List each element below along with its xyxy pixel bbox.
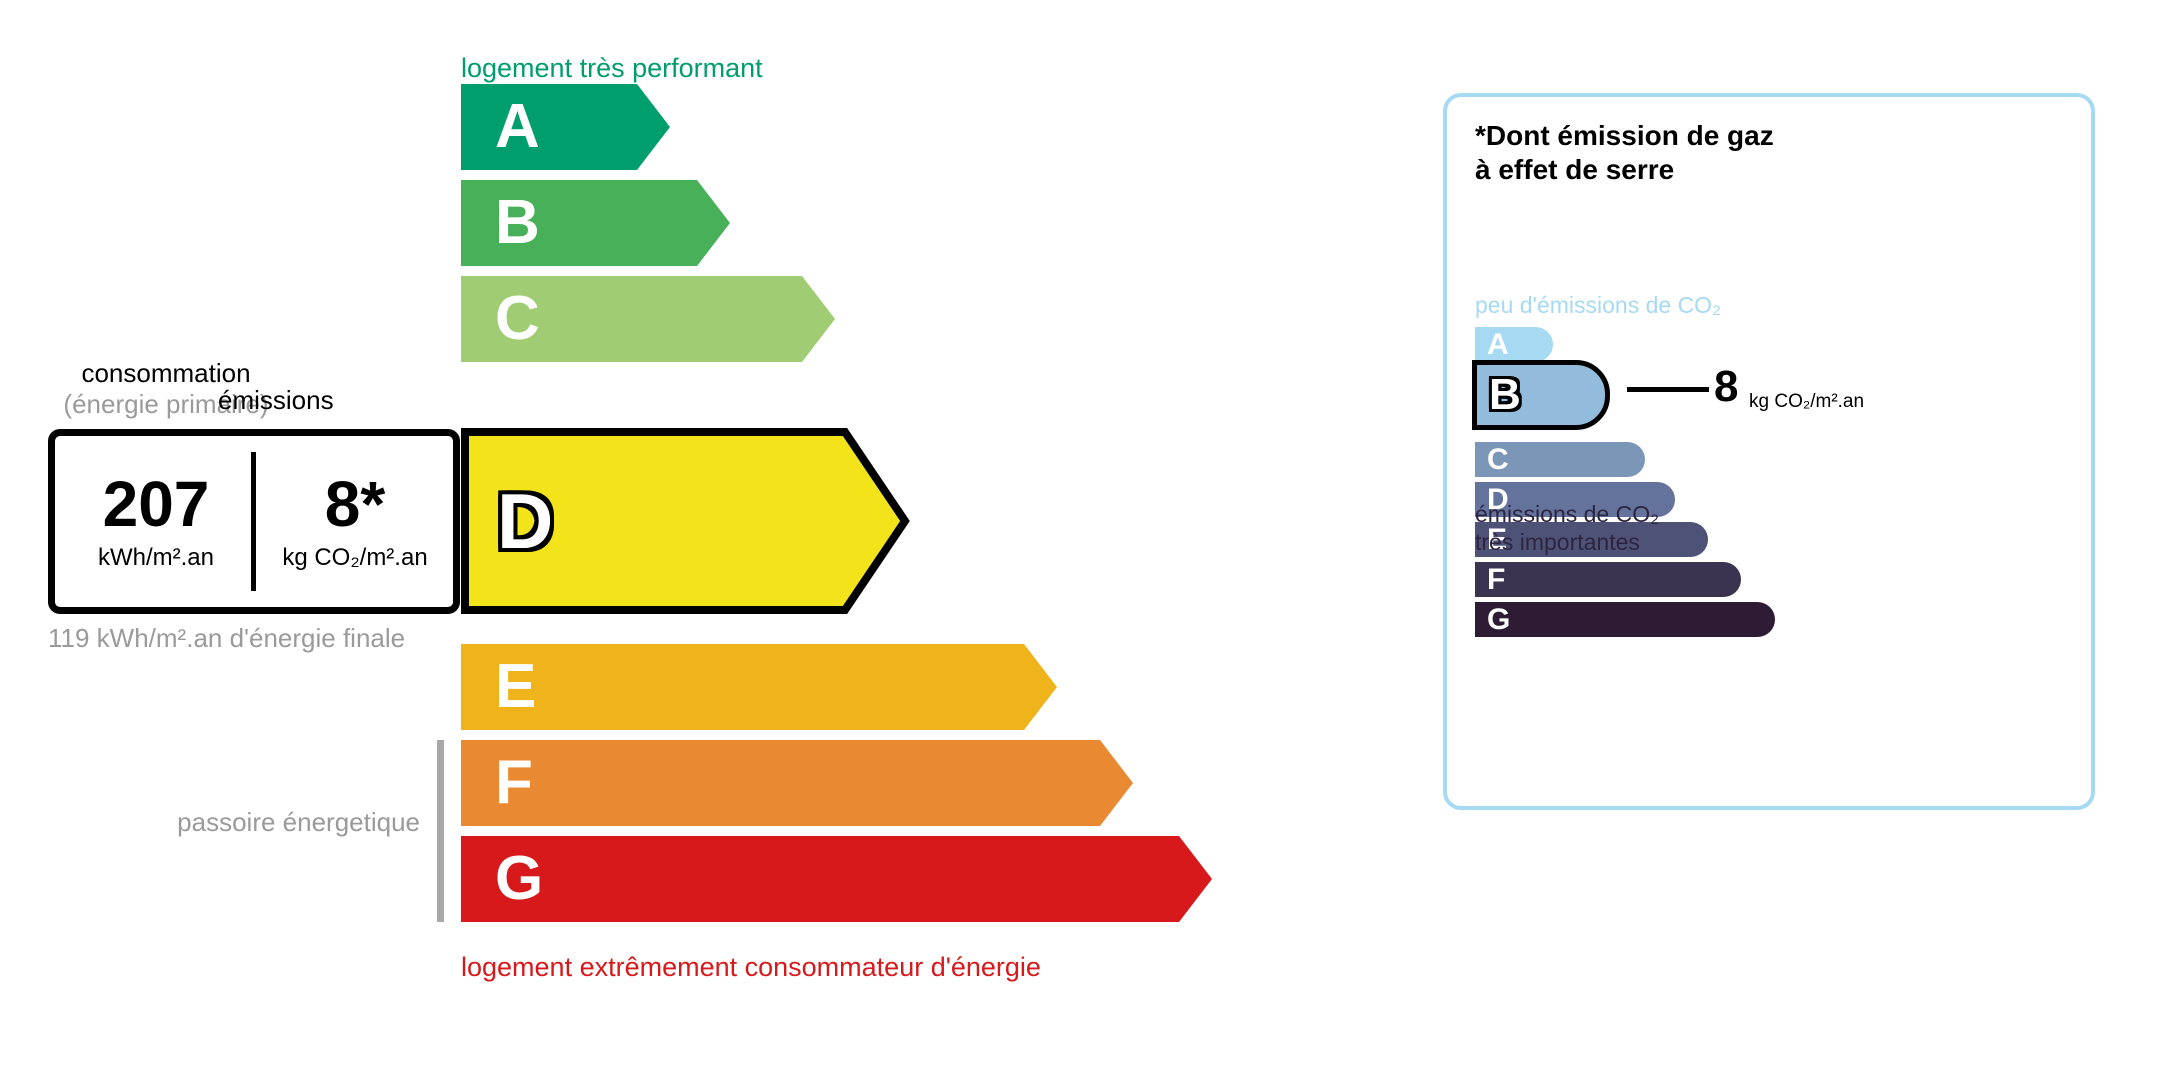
passoire-divider-rule xyxy=(437,740,444,922)
co2-value: 8 xyxy=(1714,365,1738,409)
energy-band-a: A xyxy=(461,84,673,170)
band-arrow-shape xyxy=(461,836,1215,922)
energy-band-f-letter: F xyxy=(495,752,533,814)
co2-band-c: C xyxy=(1475,442,1645,477)
co2-value-unit: kg CO₂/m².an xyxy=(1749,392,1864,411)
emissions-metric: 8* kg CO₂/m².an xyxy=(256,472,454,572)
energy-band-f: F xyxy=(461,740,1136,826)
co2-emissions-panel: *Dont émission de gaz à effet de serre p… xyxy=(1443,93,2095,810)
co2-band-c-letter: C xyxy=(1487,445,1509,475)
emissions-unit: kg CO₂/m².an xyxy=(256,544,454,572)
consumption-unit: kWh/m².an xyxy=(61,544,251,572)
final-energy-note: 119 kWh/m².an d'énergie finale xyxy=(48,623,405,654)
energy-band-c: C xyxy=(461,276,838,362)
energy-band-b: B xyxy=(461,180,733,266)
energy-bottom-caption: logement extrêmement consommateur d'éner… xyxy=(461,952,1041,983)
energy-band-d-letter: D xyxy=(497,482,553,560)
co2-band-a: A xyxy=(1475,327,1553,362)
co2-band-f: F xyxy=(1475,562,1741,597)
energy-top-caption: logement très performant xyxy=(461,53,763,84)
energy-band-c-letter: C xyxy=(495,288,540,350)
co2-band-f-letter: F xyxy=(1487,565,1505,595)
co2-panel-title: *Dont émission de gaz à effet de serre xyxy=(1475,119,1774,187)
consumption-metric: 207 kWh/m².an xyxy=(61,472,251,572)
energy-band-e: E xyxy=(461,644,1060,730)
consumption-value-box: 207 kWh/m².an 8* kg CO₂/m².an xyxy=(48,429,460,614)
co2-bottom-caption: émissions de CO₂ très importantes xyxy=(1475,501,1659,556)
co2-top-caption: peu d'émissions de CO₂ xyxy=(1475,292,1721,319)
co2-value-leader-line xyxy=(1627,387,1709,392)
energy-band-d: D xyxy=(461,428,913,614)
consumption-value: 207 xyxy=(61,472,251,536)
consumption-header-label: consommation xyxy=(81,358,250,388)
emissions-header: émissions xyxy=(218,385,334,416)
emissions-value: 8* xyxy=(256,472,454,536)
co2-band-g-letter: G xyxy=(1487,605,1510,635)
energy-band-a-letter: A xyxy=(495,96,540,158)
co2-band-b-letter: B xyxy=(1489,373,1521,417)
passoire-energetique-label: passoire énergetique xyxy=(170,806,420,839)
band-arrow-shape xyxy=(461,644,1060,730)
energy-performance-chart: logement très performant A B C D E xyxy=(0,0,1400,1079)
energy-band-g: G xyxy=(461,836,1215,922)
energy-band-b-letter: B xyxy=(495,192,540,254)
band-arrow-shape xyxy=(461,740,1136,826)
energy-band-g-letter: G xyxy=(495,848,543,910)
co2-band-a-letter: A xyxy=(1487,330,1509,360)
co2-band-b: B xyxy=(1472,360,1610,430)
energy-band-e-letter: E xyxy=(495,656,536,718)
band-arrow-shape xyxy=(461,84,673,170)
co2-band-g: G xyxy=(1475,602,1775,637)
